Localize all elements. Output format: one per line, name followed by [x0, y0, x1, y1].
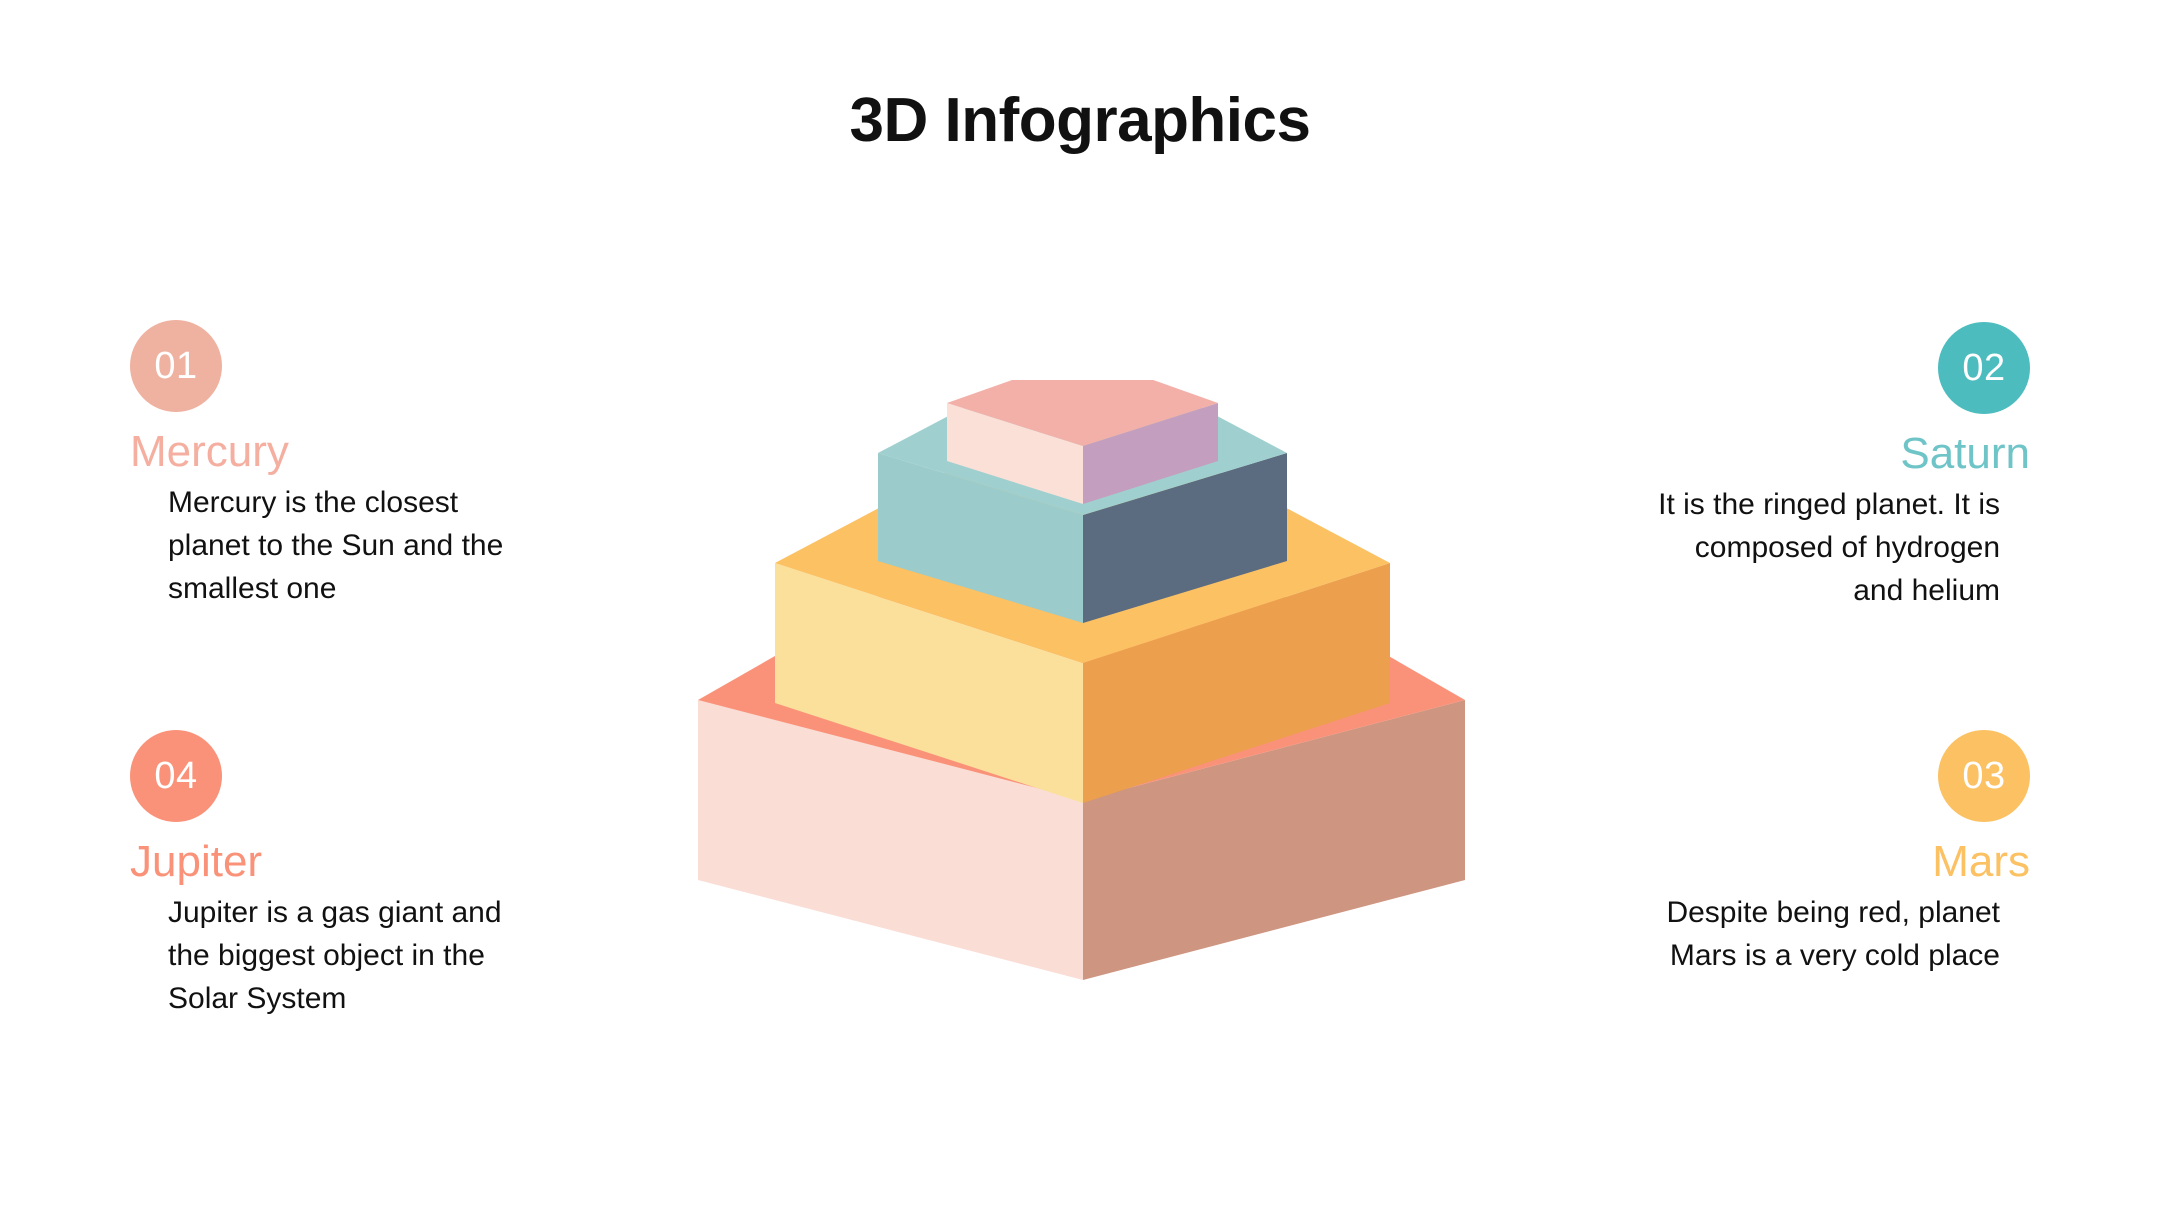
badge-number-01: 01 — [130, 320, 222, 412]
badge-label: 04 — [154, 755, 197, 798]
planet-description-saturn: It is the ringed planet. It is composed … — [1640, 484, 2030, 613]
badge-number-02: 02 — [1938, 322, 2030, 414]
info-block-mars: 03 Mars Despite being red, planet Mars i… — [1610, 730, 2030, 978]
badge-label: 03 — [1962, 755, 2005, 798]
info-block-mercury: 01 Mercury Mercury is the closest planet… — [130, 320, 550, 611]
badge-label: 01 — [154, 345, 197, 388]
info-block-saturn: 02 Saturn It is the ringed planet. It is… — [1610, 322, 2030, 613]
info-block-jupiter: 04 Jupiter Jupiter is a gas giant and th… — [130, 730, 550, 1021]
badge-number-04: 04 — [130, 730, 222, 822]
planet-name-jupiter: Jupiter — [130, 838, 550, 886]
planet-name-mars: Mars — [1610, 838, 2030, 886]
planet-description-mercury: Mercury is the closest planet to the Sun… — [130, 482, 508, 611]
badge-label: 02 — [1962, 347, 2005, 390]
badge-number-03: 03 — [1938, 730, 2030, 822]
pyramid-chart — [650, 380, 1510, 1010]
planet-name-saturn: Saturn — [1610, 430, 2030, 478]
page-title: 3D Infographics — [0, 88, 2160, 153]
planet-description-mars: Despite being red, planet Mars is a very… — [1640, 892, 2030, 978]
planet-name-mercury: Mercury — [130, 428, 550, 476]
planet-description-jupiter: Jupiter is a gas giant and the biggest o… — [130, 892, 508, 1021]
pyramid-svg — [650, 380, 1510, 1010]
